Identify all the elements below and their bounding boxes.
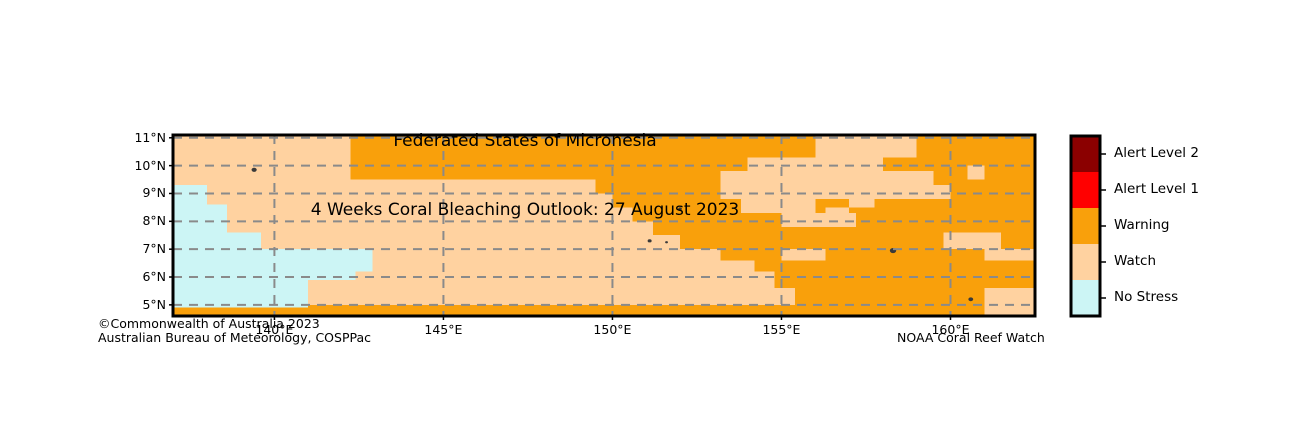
y-tick-label: 9°N	[110, 185, 166, 200]
y-tick-label: 8°N	[110, 213, 166, 228]
y-tick-label: 10°N	[110, 158, 166, 173]
map-cell	[173, 280, 308, 308]
y-tick-label: 5°N	[110, 297, 166, 312]
y-tick-label: 6°N	[110, 269, 166, 284]
legend-swatch[interactable]	[1071, 280, 1100, 316]
legend-label: No Stress	[1114, 289, 1178, 305]
legend-label: Alert Level 1	[1114, 181, 1199, 197]
legend-label: Warning	[1114, 217, 1170, 233]
x-tick-label: 145°E	[403, 322, 483, 337]
map-cell	[775, 271, 1035, 288]
legend-swatch[interactable]	[1071, 136, 1100, 172]
coral-bleaching-outlook-figure: Federated States of Micronesia 4 Weeks C…	[0, 0, 1293, 447]
legend-swatch[interactable]	[1071, 208, 1100, 244]
legend-label: Alert Level 2	[1114, 145, 1199, 161]
legend-swatch[interactable]	[1071, 244, 1100, 280]
map-cell	[795, 288, 984, 305]
x-tick-label: 155°E	[741, 322, 821, 337]
y-tick-label: 7°N	[110, 241, 166, 256]
legend-swatch[interactable]	[1071, 172, 1100, 208]
legend-label: Watch	[1114, 253, 1156, 269]
y-tick-label: 11°N	[110, 130, 166, 145]
bom-credit-line-2: Australian Bureau of Meteorology, COSPPa…	[98, 330, 371, 345]
legend-colorbar[interactable]	[1071, 136, 1106, 316]
island-marker	[968, 297, 973, 301]
x-tick-label: 150°E	[572, 322, 652, 337]
noaa-credit: NOAA Coral Reef Watch	[897, 330, 1045, 345]
bom-credit-line-1: ©Commonwealth of Australia 2023	[98, 316, 320, 331]
